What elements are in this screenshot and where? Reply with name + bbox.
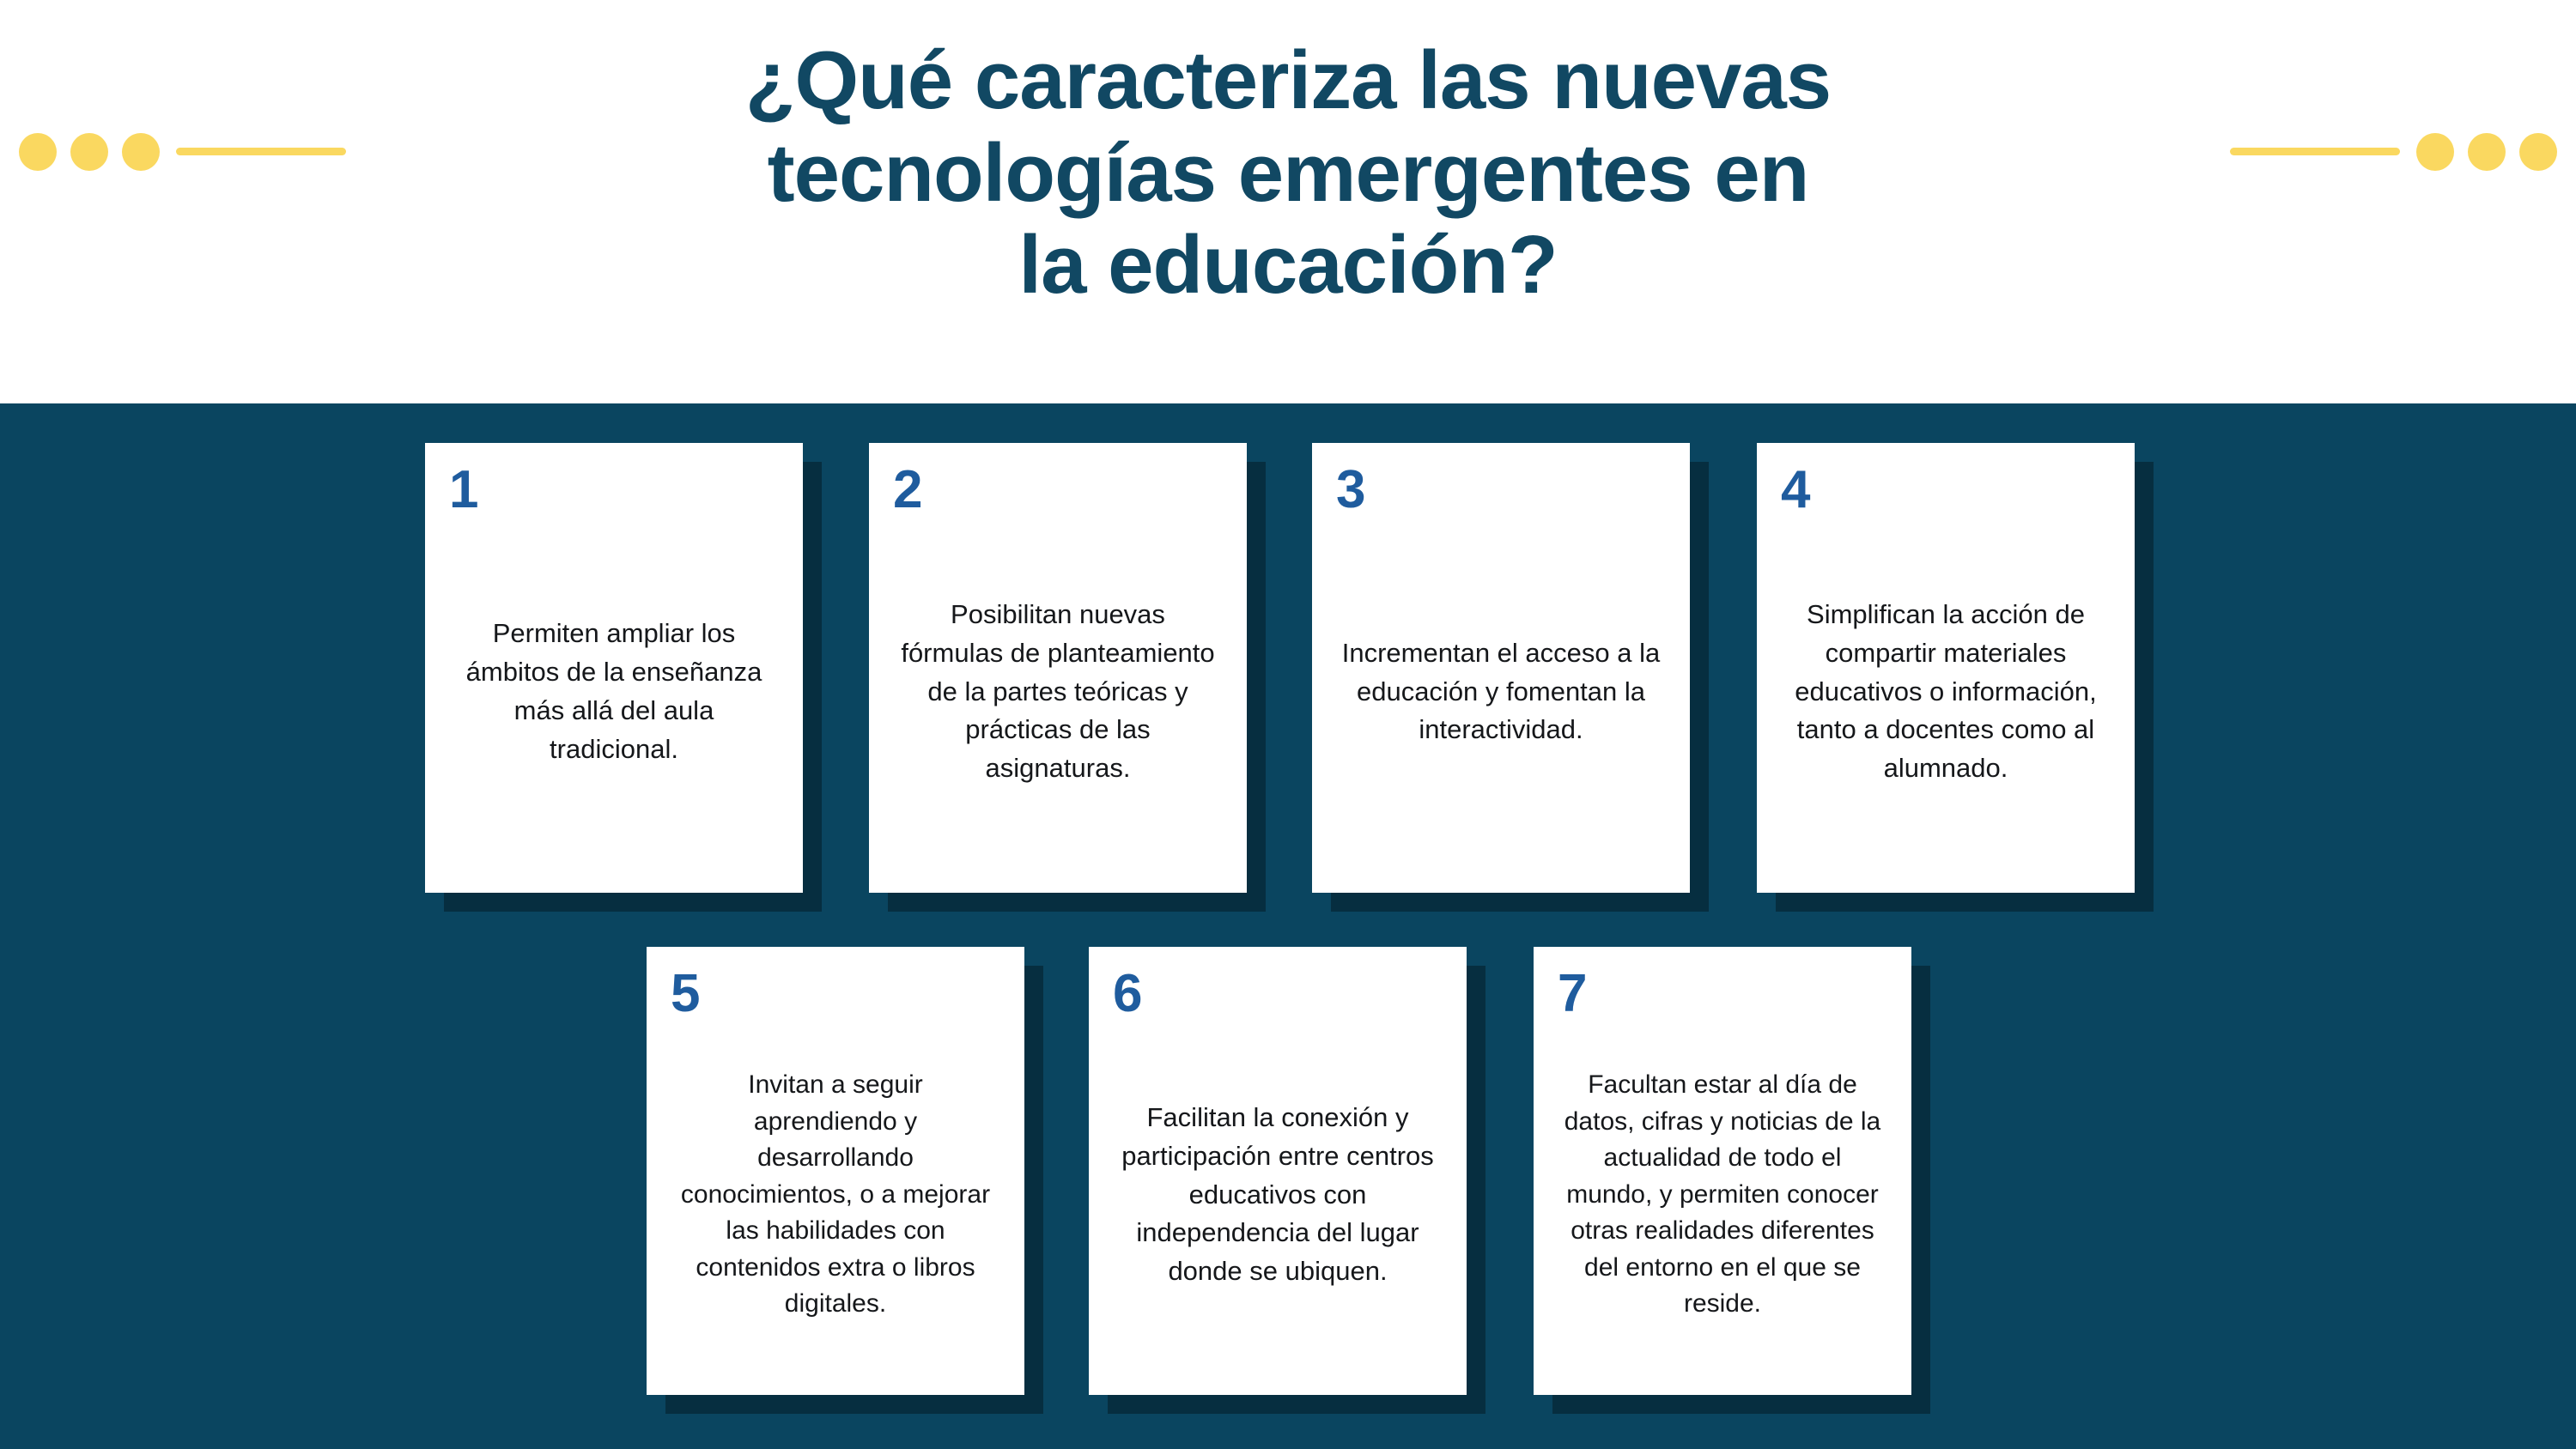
- card-number: 4: [1781, 464, 2111, 517]
- feature-card[interactable]: 4 Simplifican la acción de compartir mat…: [1757, 443, 2135, 893]
- feature-card[interactable]: 7 Facultan estar al día de datos, cifras…: [1534, 947, 1911, 1395]
- card-text: Posibilitan nuevas fórmulas de planteami…: [893, 517, 1223, 867]
- card-text: Invitan a seguir aprendiendo y desarroll…: [671, 1021, 1000, 1369]
- card-text: Facilitan la conexión y participación en…: [1113, 1021, 1443, 1369]
- cards-container: 1 Permiten ampliar los ámbitos de la ens…: [0, 0, 2576, 1449]
- card-number: 6: [1113, 967, 1443, 1021]
- feature-card[interactable]: 3 Incrementan el acceso a la educación y…: [1312, 443, 1690, 893]
- infographic-slide: ¿Qué caracteriza las nuevas tecnologías …: [0, 0, 2576, 1449]
- feature-card[interactable]: 5 Invitan a seguir aprendiendo y desarro…: [647, 947, 1024, 1395]
- card-text: Simplifican la acción de compartir mater…: [1781, 517, 2111, 867]
- feature-card[interactable]: 6 Facilitan la conexión y participación …: [1089, 947, 1467, 1395]
- card-number: 3: [1336, 464, 1666, 517]
- card-text: Incrementan el acceso a la educación y f…: [1336, 517, 1666, 867]
- feature-card[interactable]: 1 Permiten ampliar los ámbitos de la ens…: [425, 443, 803, 893]
- card-number: 2: [893, 464, 1223, 517]
- feature-card[interactable]: 2 Posibilitan nuevas fórmulas de plantea…: [869, 443, 1247, 893]
- card-number: 7: [1558, 967, 1887, 1021]
- card-number: 5: [671, 967, 1000, 1021]
- card-text: Permiten ampliar los ámbitos de la enseñ…: [449, 517, 779, 867]
- card-number: 1: [449, 464, 779, 517]
- card-text: Facultan estar al día de datos, cifras y…: [1558, 1021, 1887, 1369]
